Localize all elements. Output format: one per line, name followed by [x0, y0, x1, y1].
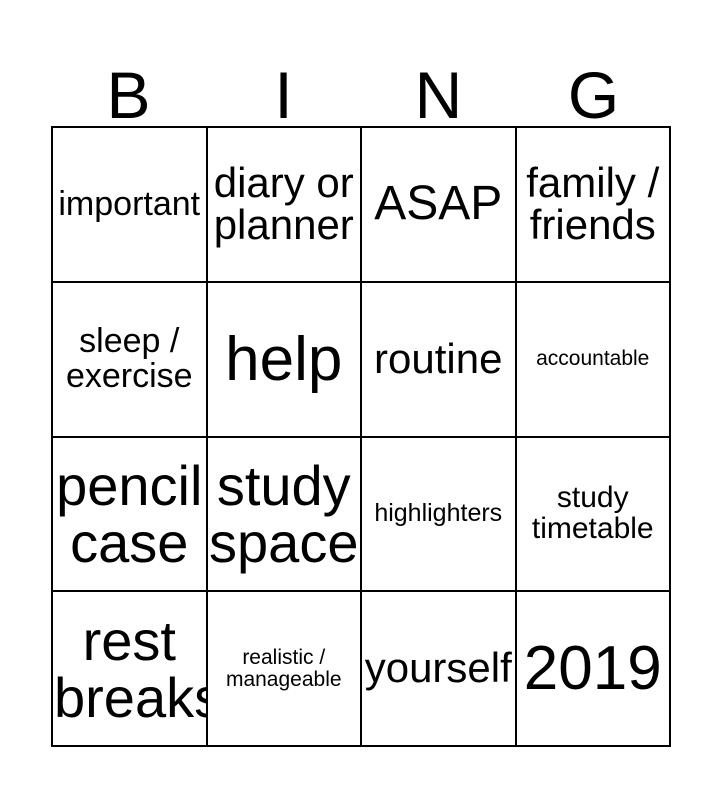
- bingo-cell-label: yourself: [363, 647, 514, 690]
- bingo-row: pencil case study space highlighters stu…: [53, 438, 671, 593]
- bingo-cell-label: pencil case: [54, 457, 205, 571]
- bingo-cell-label: rest breaks: [54, 612, 205, 726]
- header-cell-1: I: [206, 36, 361, 126]
- bingo-cell-label: family / friends: [518, 162, 669, 248]
- bingo-cell-label: realistic / manageable: [209, 647, 360, 690]
- bingo-cell[interactable]: accountable: [517, 283, 672, 438]
- bingo-cell[interactable]: help: [208, 283, 363, 438]
- header-cell-0: B: [51, 36, 206, 126]
- bingo-cell-label: diary or planner: [209, 162, 360, 248]
- bingo-cell[interactable]: pencil case: [53, 438, 208, 593]
- bingo-row: rest breaks realistic / manageable yours…: [53, 592, 671, 747]
- bingo-cell-label: study timetable: [518, 483, 669, 544]
- header-cell-2: N: [361, 36, 516, 126]
- bingo-cell-label: 2019: [518, 637, 669, 700]
- bingo-cell[interactable]: study timetable: [517, 438, 672, 593]
- bingo-cell[interactable]: yourself: [362, 592, 517, 747]
- bingo-cell-label: study space: [209, 457, 360, 571]
- bingo-cell[interactable]: diary or planner: [208, 128, 363, 283]
- bingo-cell[interactable]: 2019: [517, 592, 672, 747]
- bingo-cell-label: help: [209, 328, 360, 391]
- header-letter-b: B: [106, 62, 150, 128]
- header-cell-3: G: [516, 36, 671, 126]
- bingo-row: sleep / exercise help routine accountabl…: [53, 283, 671, 438]
- bingo-card: B I N G important diary or planner ASAP …: [0, 0, 723, 800]
- bingo-cell-label: sleep / exercise: [54, 324, 205, 393]
- bingo-grid: important diary or planner ASAP family /…: [51, 126, 671, 747]
- bingo-cell[interactable]: routine: [362, 283, 517, 438]
- header-letter-i: I: [274, 62, 292, 128]
- bingo-cell[interactable]: sleep / exercise: [53, 283, 208, 438]
- bingo-cell-label: accountable: [518, 348, 669, 369]
- bingo-cell-label: important: [54, 187, 205, 222]
- bingo-cell[interactable]: ASAP: [362, 128, 517, 283]
- bingo-cell[interactable]: highlighters: [362, 438, 517, 593]
- bingo-cell[interactable]: important: [53, 128, 208, 283]
- bingo-cell-label: ASAP: [363, 180, 514, 229]
- bingo-cell-label: routine: [363, 338, 514, 381]
- bingo-header: B I N G: [51, 36, 671, 126]
- header-letter-g: G: [568, 62, 619, 128]
- bingo-row: important diary or planner ASAP family /…: [53, 128, 671, 283]
- bingo-cell[interactable]: realistic / manageable: [208, 592, 363, 747]
- header-letter-n: N: [415, 62, 463, 128]
- bingo-cell[interactable]: rest breaks: [53, 592, 208, 747]
- bingo-cell[interactable]: family / friends: [517, 128, 672, 283]
- bingo-cell[interactable]: study space: [208, 438, 363, 593]
- bingo-cell-label: highlighters: [363, 501, 514, 527]
